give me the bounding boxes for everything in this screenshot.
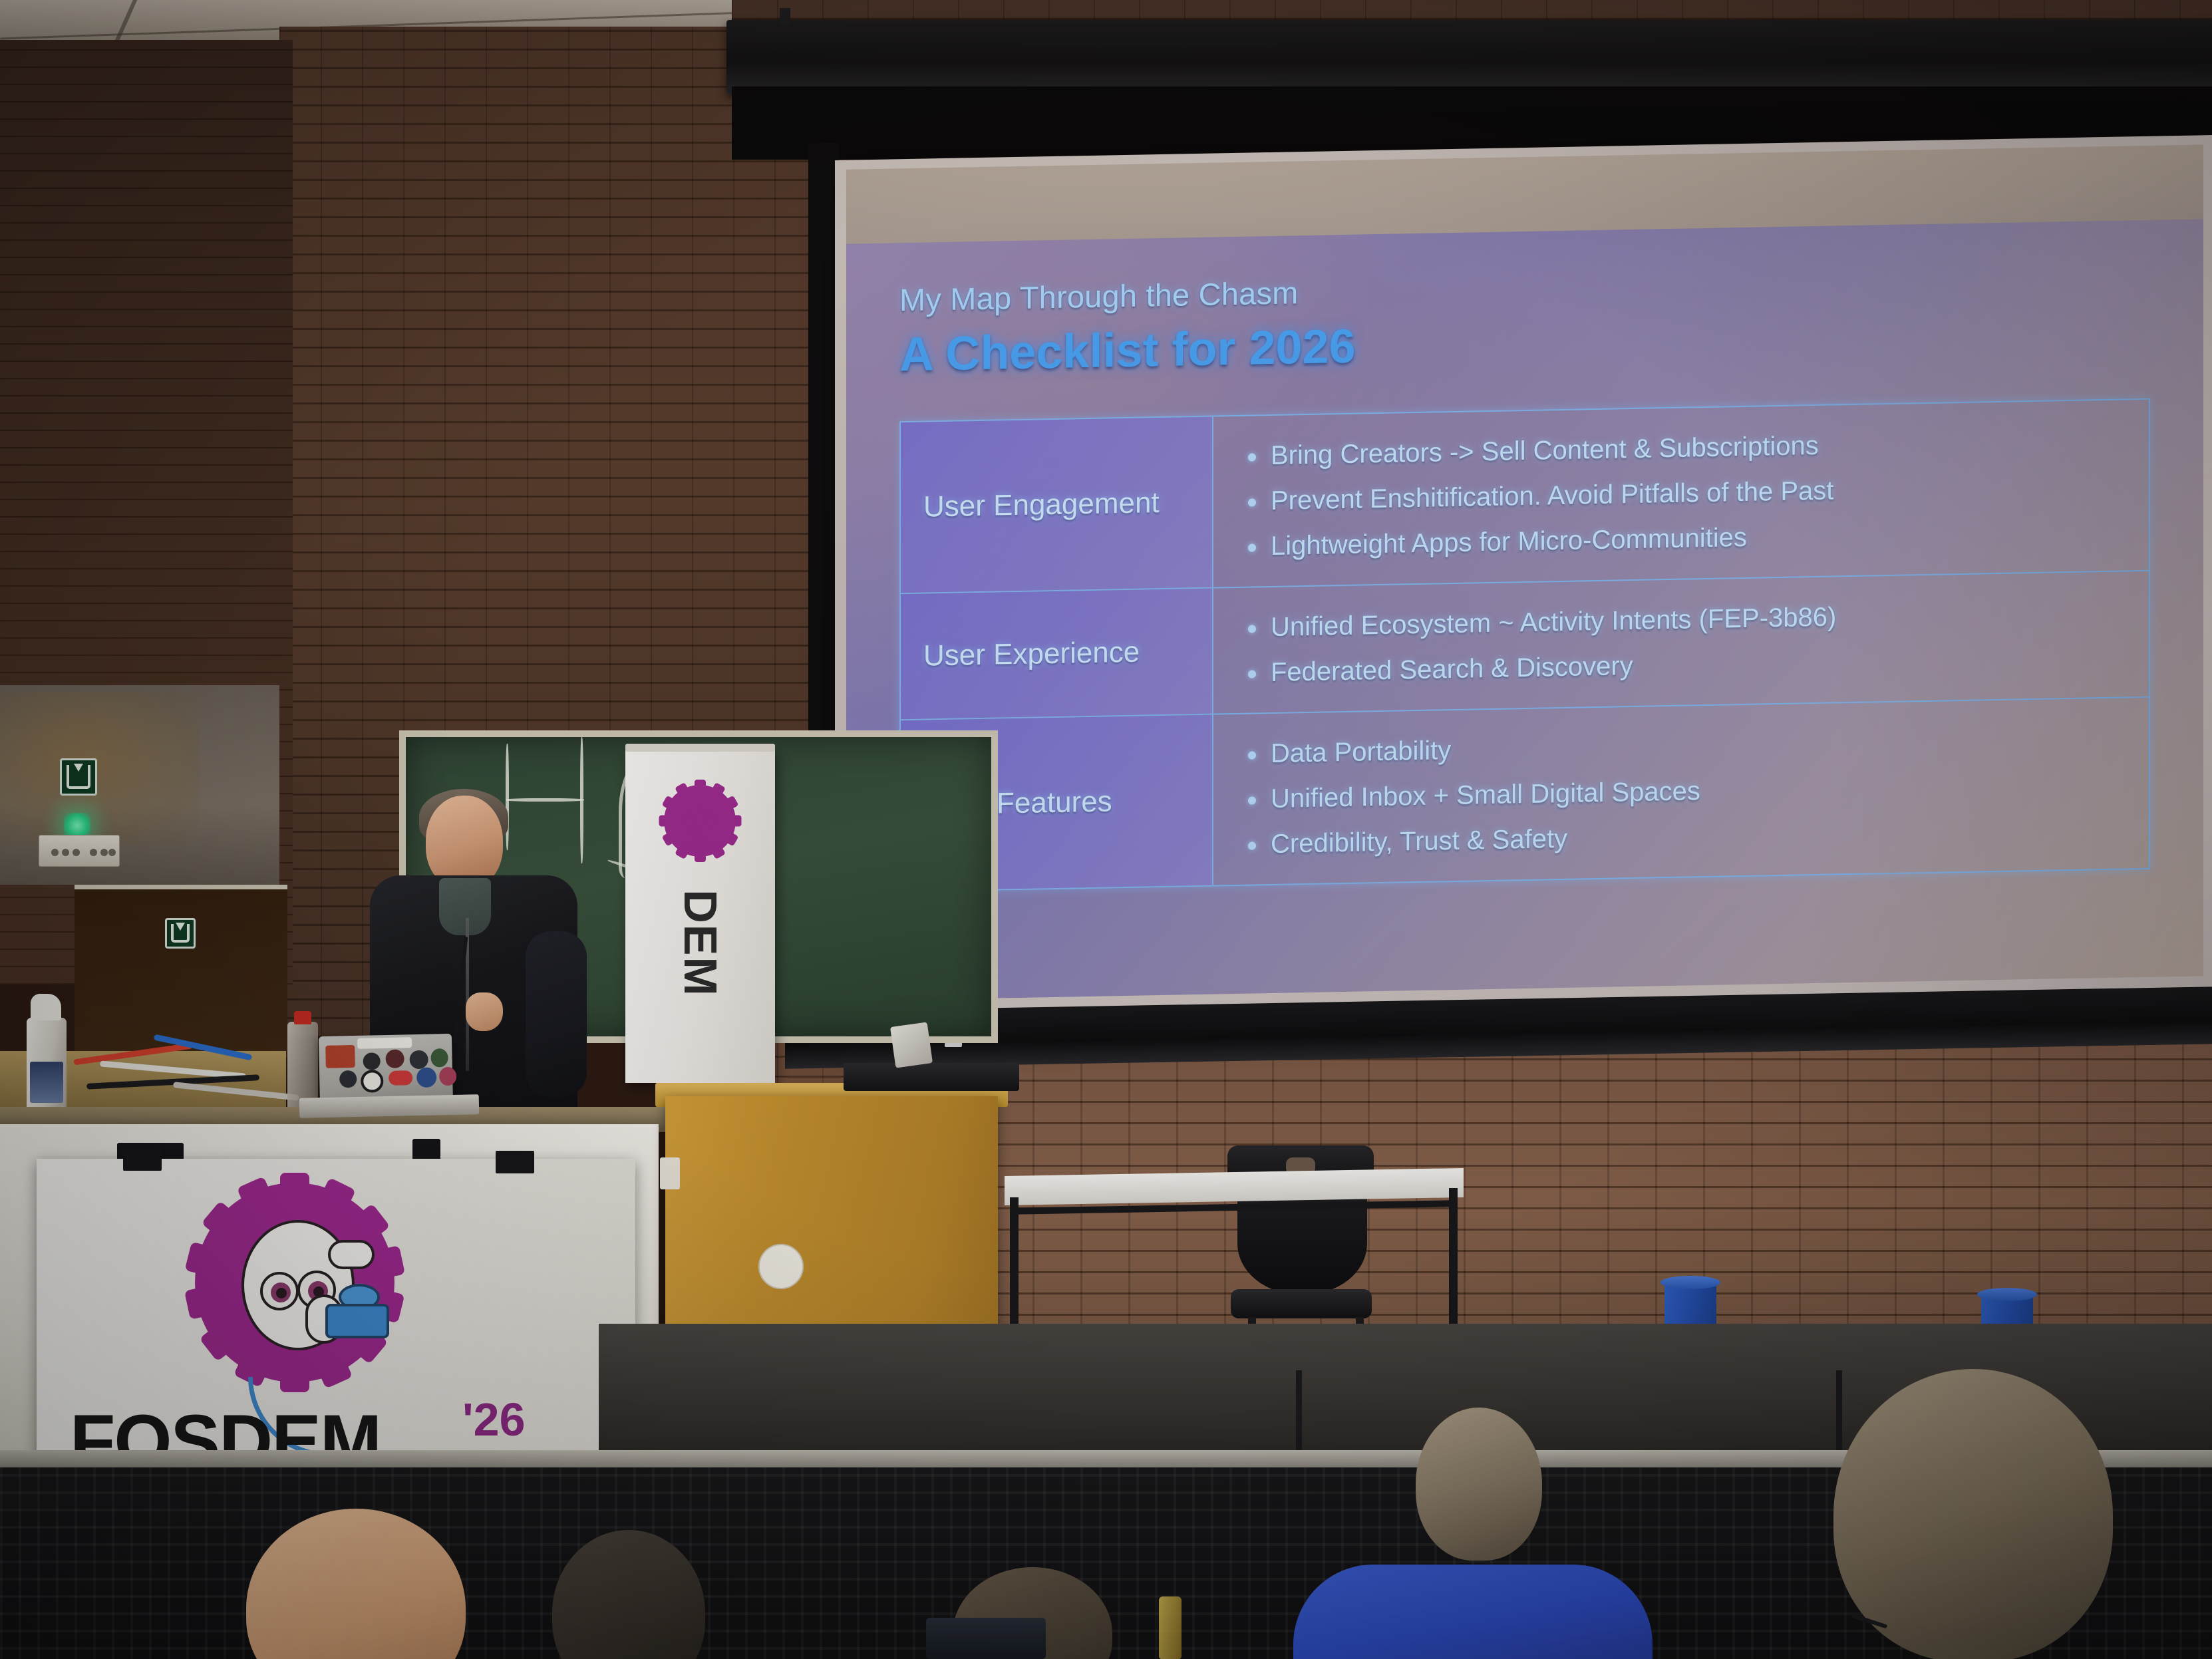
list-item-text: Prevent Enshitification. Avoid Pitfalls … xyxy=(1271,477,1833,514)
row-items: Bring Creators -> Sell Content & Subscri… xyxy=(1213,400,2149,587)
fosdem-banner: FOSDEM '26 xyxy=(37,1159,635,1491)
fosdem-year: '26 xyxy=(462,1393,526,1446)
mascot-arm-upper xyxy=(328,1240,375,1269)
projector-screen-roller xyxy=(726,20,2212,94)
rollup-banner: DEM xyxy=(625,750,775,1083)
laptop-keyboard-deck[interactable] xyxy=(299,1094,480,1118)
fosdem-mascot-icon xyxy=(195,1183,395,1382)
av-mount-bracket xyxy=(890,1022,933,1068)
bullet-icon xyxy=(1248,453,1256,461)
checklist-table: User Engagement Bring Creators -> Sell C… xyxy=(899,398,2150,892)
spray-bottle xyxy=(27,1018,67,1118)
rollup-banner-text: DEM xyxy=(674,889,727,997)
podium-latch[interactable] xyxy=(660,1157,680,1189)
list-item-text: Unified Ecosystem ~ Activity Intents (FE… xyxy=(1271,603,1836,641)
exit-sign-icon xyxy=(60,758,97,796)
bullet-icon xyxy=(1248,841,1256,849)
list-item-text: Data Portability xyxy=(1271,737,1451,767)
slide-canvas: My Map Through the Chasm A Checklist for… xyxy=(846,219,2203,1000)
doorway xyxy=(75,885,287,1058)
bullet-icon xyxy=(1248,751,1256,759)
speaker-head xyxy=(426,796,503,889)
bullet-icon xyxy=(1248,625,1256,633)
table-row: User Engagement Bring Creators -> Sell C… xyxy=(901,400,2149,594)
list-item-text: Unified Inbox + Small Digital Spaces xyxy=(1271,778,1700,812)
speaker-hand xyxy=(466,992,503,1031)
presentation-slide: My Map Through the Chasm A Checklist for… xyxy=(846,144,2203,1000)
row-items: Unified Ecosystem ~ Activity Intents (FE… xyxy=(1213,571,2149,714)
table-row: Killer Features Data Portability Unified… xyxy=(901,698,2149,891)
cable-bundle xyxy=(73,1038,293,1111)
list-item-text: Credibility, Trust & Safety xyxy=(1271,826,1567,857)
bullet-icon xyxy=(1248,498,1256,506)
list-item-text: Bring Creators -> Sell Content & Subscri… xyxy=(1271,432,1819,469)
wall-stain xyxy=(0,692,200,845)
joystick-icon xyxy=(325,1304,389,1338)
row-label: User Engagement xyxy=(901,417,1213,593)
audience-laptop[interactable] xyxy=(926,1618,1046,1659)
power-outlet-panel[interactable] xyxy=(39,835,120,867)
list-item-text: Federated Search & Discovery xyxy=(1271,653,1633,686)
audience-bottle xyxy=(1159,1596,1182,1659)
chair-seat xyxy=(1231,1289,1372,1318)
bottle-cap xyxy=(294,1011,311,1024)
bullet-icon xyxy=(1248,670,1256,678)
bullet-icon xyxy=(1248,796,1256,804)
row-label: User Experience xyxy=(901,589,1213,720)
speaker-arm xyxy=(526,931,587,1098)
exit-sign-icon-lower xyxy=(165,918,196,949)
list-item-text: Lightweight Apps for Micro-Communities xyxy=(1271,524,1747,559)
row-items: Data Portability Unified Inbox + Small D… xyxy=(1213,698,2149,885)
av-control-box[interactable] xyxy=(844,1063,1019,1091)
conference-photo: My Map Through the Chasm A Checklist for… xyxy=(0,0,2212,1659)
speaker-shirt-collar xyxy=(439,878,491,935)
slide-headline: A Checklist for 2026 xyxy=(899,305,2151,382)
bullet-icon xyxy=(1248,543,1256,551)
table-row: User Experience Unified Ecosystem ~ Acti… xyxy=(901,571,2149,720)
podium-sticker xyxy=(758,1244,804,1289)
gear-icon xyxy=(664,785,736,857)
